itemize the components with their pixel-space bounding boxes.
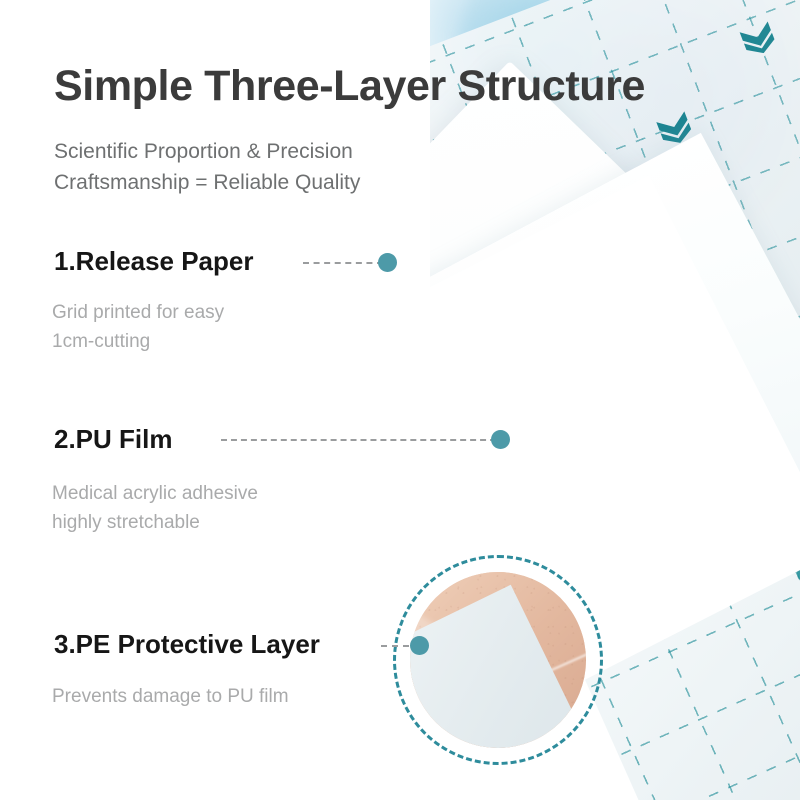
layer-2-desc-line-1: Medical acrylic adhesive [52,479,258,508]
layer-1-description: Grid printed for easy 1cm-cutting [52,298,224,356]
layer-3-desc-line-1: Prevents damage to PU film [52,682,289,711]
layer-1-desc-line-2: 1cm-cutting [52,327,224,356]
bottom-left-background [0,560,430,800]
layer-2-leader-line [221,439,506,441]
layer-2-description: Medical acrylic adhesive highly stretcha… [52,479,258,537]
layer-3-description: Prevents damage to PU film [52,682,289,711]
layer-1-title: 1.Release Paper [54,246,253,277]
subtitle-line-1: Scientific Proportion & Precision [54,136,360,167]
layer-1-leader-line [303,262,383,264]
layer-2-desc-line-2: highly stretchable [52,508,258,537]
dashed-circle-magnifier-icon [393,555,603,765]
layer-1-callout-dot [378,253,397,272]
layer-3-title: 3.PE Protective Layer [54,629,320,660]
product-infographic: Simple Three-Layer Structure Scientific … [0,0,800,800]
page-title: Simple Three-Layer Structure [54,62,645,111]
page-subtitle: Scientific Proportion & Precision Crafts… [54,136,360,198]
layer-2-title: 2.PU Film [54,424,172,455]
layer-1-desc-line-1: Grid printed for easy [52,298,224,327]
subtitle-line-2: Craftsmanship = Reliable Quality [54,167,360,198]
layer-3-callout-dot [410,636,429,655]
layer-3-leader-line [381,645,409,647]
layer-2-callout-dot [491,430,510,449]
